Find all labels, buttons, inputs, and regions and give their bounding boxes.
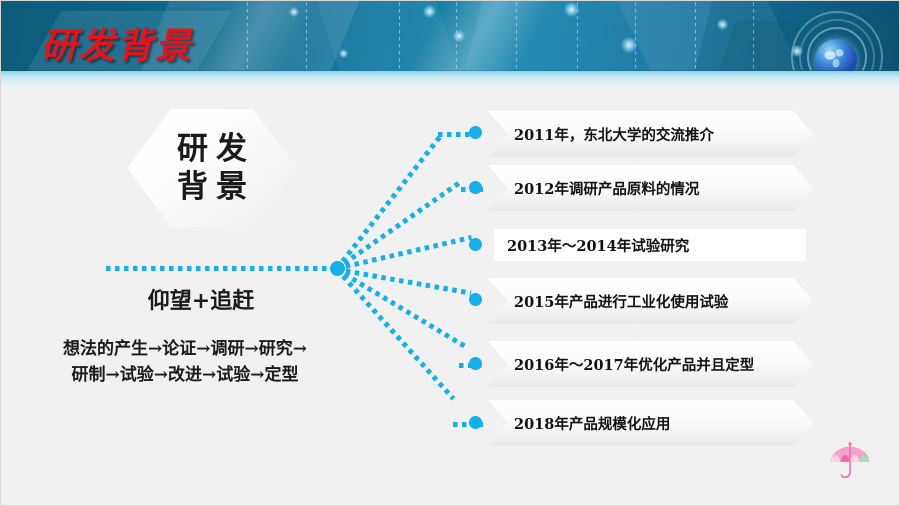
connector-left bbox=[106, 266, 334, 271]
banner-dotted-line bbox=[306, 1, 307, 81]
banner-glow-dot bbox=[621, 37, 637, 53]
banner-dotted-line bbox=[399, 1, 400, 81]
banner-dotted-line bbox=[753, 1, 754, 81]
banner-glow-dot bbox=[423, 5, 436, 18]
banner-dotted-line bbox=[516, 1, 517, 81]
header-banner: 研发背景 bbox=[1, 1, 900, 91]
banner-glow-dot bbox=[717, 19, 728, 30]
banner-glow-dot bbox=[453, 30, 465, 42]
connector-endpoint-6 bbox=[469, 416, 482, 429]
slide: 研发背景 研发 背景 仰望+追赶 想法的产生→论证→调研→研究→ 研制→试验→改… bbox=[0, 0, 900, 506]
hexagon-badge-line-1: 研发 bbox=[169, 130, 255, 168]
hexagon-badge-line-2: 背景 bbox=[169, 168, 255, 206]
connector-endpoint-2 bbox=[469, 181, 482, 194]
banner-glow-dot bbox=[564, 2, 579, 17]
timeline-item-1-label: 2011年，东北大学的交流推介 bbox=[488, 124, 714, 145]
left-process-flow-line-1: 想法的产生→论证→调研→研究→ bbox=[15, 336, 355, 362]
connector-endpoint-5 bbox=[469, 357, 482, 370]
left-process-flow: 想法的产生→论证→调研→研究→ 研制→试验→改进→试验→定型 bbox=[15, 336, 355, 389]
banner-glow-dot bbox=[289, 7, 299, 17]
umbrella-icon bbox=[827, 437, 873, 483]
timeline-item-5[interactable]: 2016年～2017年优化产品并且定型 bbox=[488, 341, 813, 387]
connector-endpoint-4 bbox=[469, 293, 482, 306]
banner-glow-dot bbox=[339, 49, 348, 58]
page-title: 研发背景 bbox=[41, 17, 193, 69]
globe-landmass bbox=[821, 45, 851, 71]
timeline-item-6-label: 2018年产品规模化应用 bbox=[488, 413, 670, 434]
timeline-item-5-label: 2016年～2017年优化产品并且定型 bbox=[488, 354, 754, 375]
banner-dotted-line bbox=[247, 1, 248, 81]
timeline-item-4[interactable]: 2015年产品进行工业化使用试验 bbox=[488, 278, 813, 324]
hexagon-badge: 研发 背景 bbox=[127, 109, 297, 227]
banner-fade bbox=[1, 71, 900, 91]
connector-endpoint-1 bbox=[469, 126, 482, 139]
left-heading: 仰望+追赶 bbox=[61, 283, 341, 315]
left-process-flow-line-2: 研制→试验→改进→试验→定型 bbox=[15, 362, 355, 388]
banner-dotted-line bbox=[695, 1, 696, 81]
timeline-item-3[interactable]: 2013年～2014年试验研究 bbox=[494, 229, 806, 261]
connector-endpoint-3 bbox=[469, 238, 482, 251]
connector-diagonal-2 bbox=[336, 179, 463, 270]
center-hub-node bbox=[330, 261, 345, 276]
timeline-item-2[interactable]: 2012年调研产品原料的情况 bbox=[488, 165, 813, 211]
timeline-item-4-label: 2015年产品进行工业化使用试验 bbox=[488, 291, 728, 312]
timeline-item-1[interactable]: 2011年，东北大学的交流推介 bbox=[488, 111, 813, 157]
timeline-item-2-label: 2012年调研产品原料的情况 bbox=[488, 178, 699, 199]
timeline-item-3-label: 2013年～2014年试验研究 bbox=[494, 235, 689, 256]
timeline-item-6[interactable]: 2018年产品规模化应用 bbox=[488, 400, 813, 446]
